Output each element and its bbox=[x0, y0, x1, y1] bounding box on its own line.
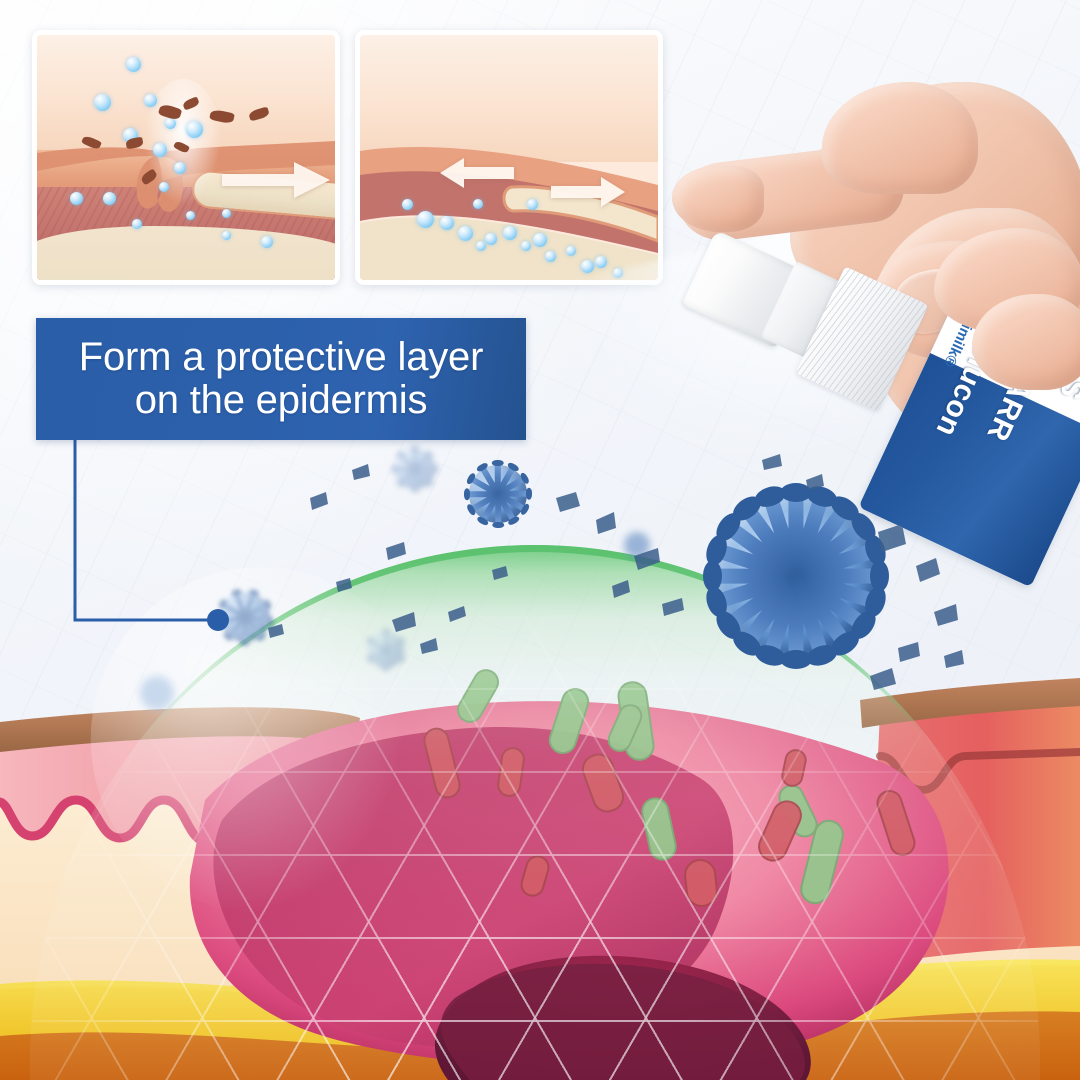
droplet bbox=[144, 94, 157, 107]
droplet bbox=[521, 241, 531, 251]
banner-line-1: Form a protective layer bbox=[79, 335, 483, 379]
inset2-arrow-left-icon bbox=[440, 158, 514, 193]
hand-with-spray-bottle: Timilk® Glucon BARR S bbox=[672, 58, 1080, 538]
droplet bbox=[417, 211, 434, 228]
droplet bbox=[476, 241, 486, 251]
droplet bbox=[527, 199, 538, 210]
droplet bbox=[261, 236, 273, 248]
infographic-canvas: Form a protective layer on the epidermis… bbox=[0, 0, 1080, 1080]
droplet bbox=[581, 260, 594, 273]
index-fingertip bbox=[672, 166, 764, 232]
droplet bbox=[103, 192, 116, 205]
droplet bbox=[595, 256, 607, 268]
headline-banner: Form a protective layer on the epidermis bbox=[36, 318, 526, 440]
inset-panel-1[interactable] bbox=[32, 30, 340, 285]
banner-line-2: on the epidermis bbox=[79, 379, 483, 422]
inset-panel-2[interactable] bbox=[355, 30, 663, 285]
middle-finger bbox=[822, 82, 978, 194]
droplet bbox=[153, 143, 167, 157]
inset2-arrow-right-icon bbox=[551, 177, 625, 212]
droplet bbox=[222, 231, 231, 240]
droplet bbox=[186, 121, 203, 138]
banner-text: Form a protective layer on the epidermis bbox=[65, 336, 497, 422]
droplet bbox=[566, 246, 576, 256]
droplet bbox=[545, 251, 556, 262]
droplet bbox=[94, 94, 111, 111]
droplet bbox=[70, 192, 83, 205]
droplet bbox=[222, 209, 231, 218]
droplet bbox=[402, 199, 413, 210]
inset1-arrow-icon bbox=[222, 162, 332, 203]
